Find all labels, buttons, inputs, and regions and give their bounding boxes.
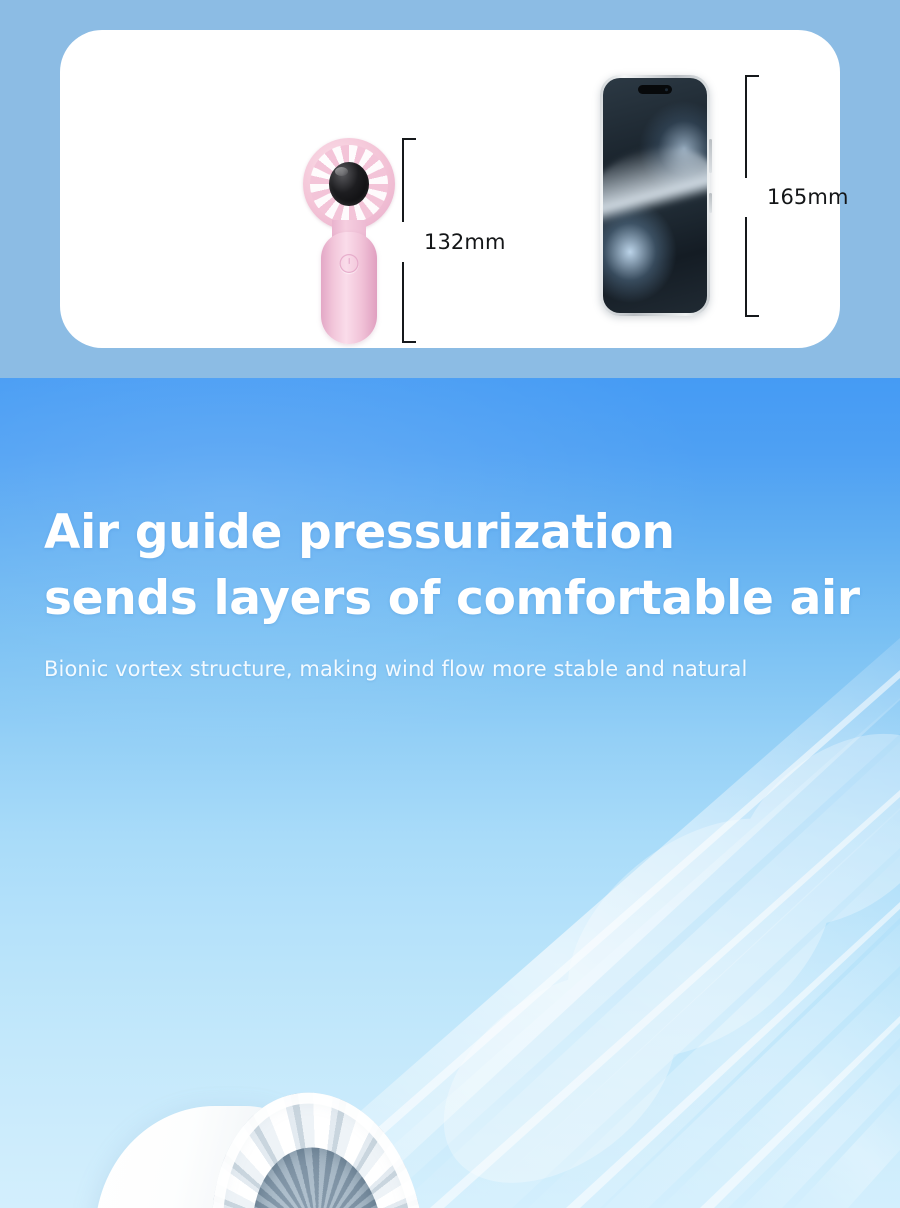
bracket-tick-bottom — [745, 315, 759, 317]
size-comparison-section: 132mm 16 — [0, 0, 900, 378]
phone-wallpaper-swirl — [603, 130, 707, 270]
headline-line-1: Air guide pressurization — [44, 500, 860, 566]
fan-dimension-bracket: 132mm — [402, 138, 532, 343]
fan-blade-ring — [194, 1079, 442, 1208]
power-button-icon — [340, 254, 359, 273]
headline-line-2: sends layers of comfortable air — [44, 566, 860, 632]
phone-dimension-label: 165mm — [767, 185, 849, 209]
fan-outer-rim — [194, 1079, 442, 1208]
phone-volume-button — [709, 193, 712, 213]
phone-notch-icon — [638, 85, 672, 94]
bracket-tick-bottom — [402, 341, 416, 343]
phone-icon — [600, 75, 710, 316]
fan-icon — [303, 138, 395, 230]
fan-dimension-label: 132mm — [424, 230, 506, 254]
bracket-line-upper — [402, 138, 404, 222]
bracket-line-lower — [745, 217, 747, 316]
product-detail-page: 132mm 16 — [0, 0, 900, 1208]
bracket-tick-top — [402, 138, 416, 140]
large-fan-photo — [95, 1084, 425, 1208]
fan-hub-icon — [329, 162, 369, 206]
phone-screen — [603, 78, 707, 313]
bracket-line-lower — [402, 262, 404, 343]
phone-power-button — [709, 139, 712, 173]
comparison-card: 132mm 16 — [60, 30, 840, 348]
hero-headline: Air guide pressurization sends layers of… — [44, 500, 860, 632]
hero-section: Air guide pressurization sends layers of… — [0, 378, 900, 1208]
fan-handle — [321, 232, 377, 344]
hero-subheadline: Bionic vortex structure, making wind flo… — [44, 657, 747, 681]
phone-dimension-bracket: 165mm — [745, 75, 885, 317]
bracket-line-upper — [745, 75, 747, 178]
bracket-tick-top — [745, 75, 759, 77]
